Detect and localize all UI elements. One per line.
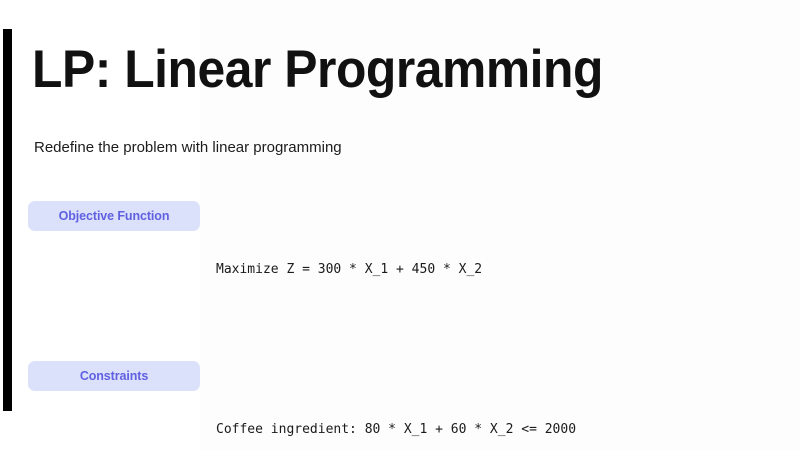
row-constraints: Constraints Coffee ingredient: 80 * X_1 … [0, 361, 800, 450]
row-objective-function: Objective Function Maximize Z = 300 * X_… [0, 201, 800, 335]
page-title: LP: Linear Programming [32, 41, 690, 99]
code-constraints: Coffee ingredient: 80 * X_1 + 60 * X_2 <… [216, 361, 800, 450]
definition-rows: Objective Function Maximize Z = 300 * X_… [0, 195, 800, 450]
code-line: Coffee ingredient: 80 * X_1 + 60 * X_2 <… [216, 417, 800, 443]
code-objective-function: Maximize Z = 300 * X_1 + 450 * X_2 [216, 201, 800, 335]
label-pill-objective-function: Objective Function [28, 201, 200, 231]
page-subtitle: Redefine the problem with linear program… [34, 138, 342, 158]
slide-canvas: LP: Linear Programming Redefine the prob… [0, 0, 800, 450]
code-line: Maximize Z = 300 * X_1 + 450 * X_2 [216, 257, 800, 283]
label-pill-constraints: Constraints [28, 361, 200, 391]
